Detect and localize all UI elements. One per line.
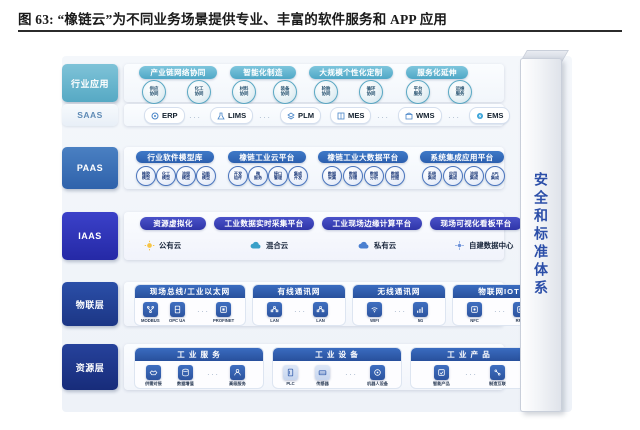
diagram-canvas: 行业应用 产业链网络协同 供应协同 化工协同 智能化制造 材料协同 装备协同 大… (0, 34, 640, 430)
iaas-pill-0[interactable]: 资源虚拟化 (140, 217, 206, 230)
cloud-icon (250, 241, 262, 250)
iaas-pill-2[interactable]: 工业现场边缘计算平台 (322, 217, 422, 230)
chip-label: EMS (487, 111, 503, 120)
paas-node-2-0[interactable]: 数据采集 (322, 166, 342, 186)
cloud-label: 私有云 (374, 240, 396, 251)
flask-icon (217, 112, 225, 120)
pill-label: 橡链工业大数据平台 (327, 152, 398, 163)
pill-label: 橡链工业云平台 (239, 152, 294, 163)
signal-icon (413, 302, 428, 317)
resource-node-label: 机器人设备 (367, 381, 388, 387)
industry-node-1-0[interactable]: 材料协同 (232, 80, 256, 104)
pill-label: 智能化制造 (243, 67, 282, 78)
industry-node-3-0[interactable]: 平台服务 (406, 80, 430, 104)
pill-label: 资源虚拟化 (153, 218, 192, 229)
iaas-cloud-private[interactable]: 私有云 (358, 240, 396, 251)
paas-node-1-1[interactable]: 微服务 (248, 166, 268, 186)
handshake-icon (146, 365, 161, 380)
resource-node-2-1[interactable]: 制造互联 (489, 365, 506, 387)
industry-node-0-1[interactable]: 化工协同 (187, 80, 211, 104)
resource-node-label: 智能产品 (433, 381, 450, 387)
resource-node-label: 数据增值 (177, 381, 194, 387)
chip-label: ERP (162, 111, 178, 120)
industry-pill-1[interactable]: 智能化制造 (230, 66, 296, 79)
iot-node-wifi[interactable]: WIFI (367, 302, 382, 323)
iaas-cloud-hybrid[interactable]: 混合云 (250, 240, 288, 251)
resource-dots-2: ··· (465, 370, 478, 379)
network-icon (143, 302, 158, 317)
paas-node-1-3[interactable]: 集成开发 (288, 166, 308, 186)
pill-label: 大规模个性化定制 (319, 67, 382, 78)
paas-pill-2[interactable]: 橡链工业大数据平台 (318, 151, 408, 163)
resource-node-0-2[interactable]: 高级服务 (229, 365, 246, 387)
layer-tab-resource[interactable]: 资源层 (62, 344, 118, 390)
iaas-pill-1[interactable]: 工业数据实时采集平台 (214, 217, 314, 230)
iot-node-nfc[interactable]: NFC (467, 302, 482, 323)
layer-tab-label: 行业应用 (71, 77, 109, 90)
layer-tab-label: PAAS (77, 163, 103, 173)
figure-title-text: “橡链云”为不同业务场景提供专业、丰富的软件服务和 APP 应用 (57, 12, 447, 27)
saas-dots-1: ··· (259, 113, 272, 122)
box-icon (405, 112, 413, 120)
iot-dots-3: ··· (494, 307, 507, 316)
resource-node-label: 制造互联 (489, 381, 506, 387)
lan-icon (313, 302, 328, 317)
connected-manufacturing-icon (490, 365, 505, 380)
paas-node-2-3[interactable]: 数据挖掘 (385, 166, 405, 186)
resource-node-0-1[interactable]: 数据增值 (177, 365, 194, 387)
layer-tab-label: 资源层 (76, 361, 105, 374)
industry-node-2-0[interactable]: 轮胎协同 (314, 80, 338, 104)
saas-dots-2: ··· (377, 113, 390, 122)
server-icon (170, 302, 185, 317)
data-value-icon (178, 365, 193, 380)
resource-card-title: 工 业 设 备 (273, 348, 401, 361)
saas-chip-plm[interactable]: PLM (280, 107, 321, 124)
gear-icon (151, 112, 159, 120)
resource-node-1-0[interactable]: PLC (283, 365, 298, 386)
resource-node-1-1[interactable]: 传感器 (315, 365, 330, 387)
iot-node-label: MODBUS (141, 318, 160, 323)
chip-label: MES (348, 111, 364, 120)
industry-pill-0[interactable]: 产业链网络协同 (139, 66, 217, 79)
resource-node-1-2[interactable]: 机器人设备 (367, 365, 388, 387)
title-divider (18, 30, 622, 32)
saas-chip-erp[interactable]: ERP (144, 107, 185, 124)
iaas-pill-3[interactable]: 现场可视化看板平台 (430, 217, 522, 230)
pill-label: 现场可视化看板平台 (440, 218, 511, 229)
paas-node-2-1[interactable]: 数据存储 (343, 166, 363, 186)
industry-node-1-1[interactable]: 装备协同 (273, 80, 297, 104)
iaas-cloud-datacenter[interactable]: 自建数据中心 (454, 240, 513, 251)
iot-node-5g[interactable]: 5G (413, 302, 428, 323)
robot-icon (370, 365, 385, 380)
paas-node-3-3[interactable]: API集成 (485, 166, 505, 186)
layers-icon (287, 112, 295, 120)
resource-node-2-0[interactable]: 智能产品 (433, 365, 450, 387)
pill-label: 产业链网络协同 (150, 67, 205, 78)
saas-chip-lims[interactable]: LIMS (210, 107, 253, 124)
industry-node-3-1[interactable]: 运维服务 (448, 80, 472, 104)
resource-node-label: 供需对接 (145, 381, 162, 387)
smart-product-icon (434, 365, 449, 380)
iot-card-title: 有线通讯网 (253, 285, 345, 298)
cloud-lock-icon (358, 241, 370, 250)
chip-label: WMS (416, 111, 435, 120)
iot-card-2: 无线通讯网 WIFI ··· 5G (352, 284, 446, 326)
sun-cloud-icon (144, 240, 155, 251)
layer-tab-label: SAAS (77, 110, 103, 120)
paas-pill-1[interactable]: 橡链工业云平台 (228, 151, 306, 163)
pill-label: 工业现场边缘计算平台 (333, 218, 412, 229)
iot-dots-2: ··· (394, 307, 407, 316)
pill-label: 工业数据实时采集平台 (225, 218, 304, 229)
iot-node-lan-0[interactable]: LAN (267, 302, 282, 323)
grid-icon (337, 112, 345, 120)
saas-dots-3: ··· (448, 113, 461, 122)
layer-tab-iaas[interactable]: IAAS (62, 212, 118, 260)
chip-label: PLM (298, 111, 314, 120)
iot-node-label: NFC (470, 318, 479, 323)
datacenter-icon (454, 240, 465, 251)
iot-node-label: PROFINET (213, 318, 234, 323)
paas-node-3-1[interactable]: 应用集成 (443, 166, 463, 186)
paas-pill-0[interactable]: 行业软件模型库 (136, 151, 214, 163)
resource-card-1: 工 业 设 备 PLC 传感器 ··· 机器人设备 (272, 347, 402, 389)
cloud-label: 混合云 (266, 240, 288, 251)
resource-card-0: 工 业 服 务 供需对接 数据增值 ··· 高级服务 (134, 347, 264, 389)
resource-card-2: 工 业 产 品 智能产品 ··· 制造互联 (410, 347, 528, 389)
layer-tab-saas[interactable]: SAAS (62, 104, 118, 126)
resource-node-label: 传感器 (316, 381, 329, 387)
iot-node-label: 5G (418, 318, 424, 323)
paas-node-0-3[interactable]: 动能模型 (196, 166, 216, 186)
iot-node-label: OPC UA (169, 318, 185, 323)
paas-node-2-2[interactable]: 数据分析 (364, 166, 384, 186)
iot-card-1: 有线通讯网 LAN ··· LAN (252, 284, 346, 326)
iot-node-profinet[interactable]: PROFINET (213, 302, 234, 323)
iot-node-label: LAN (270, 318, 279, 323)
sensor-icon (467, 302, 482, 317)
figure-title-row: 图 63: “橡链云”为不同业务场景提供专业、丰富的软件服务和 APP 应用 (18, 8, 622, 28)
iot-card-title: 现场总线/工业以太网 (135, 285, 245, 298)
iaas-cloud-public[interactable]: 公有云 (144, 240, 181, 251)
paas-node-3-0[interactable]: 系统集成 (422, 166, 442, 186)
iot-card-0: 现场总线/工业以太网 MODBUS OPC UA ··· PROFINET (134, 284, 246, 326)
plc-icon (283, 365, 298, 380)
industry-node-2-1[interactable]: 循环协同 (359, 80, 383, 104)
wifi-icon (367, 302, 382, 317)
pill-label: 服务化延伸 (417, 67, 456, 78)
resource-node-label: 高级服务 (229, 381, 246, 387)
resource-node-label: PLC (286, 381, 294, 386)
chip-label: LIMS (228, 111, 246, 120)
paas-node-0-0[interactable]: 橡胶模型 (136, 166, 156, 186)
saas-dots-0: ··· (189, 113, 202, 122)
industry-pill-3[interactable]: 服务化延伸 (406, 66, 468, 79)
iot-dots-1: ··· (294, 307, 307, 316)
pill-label: 行业软件模型库 (147, 152, 202, 163)
layer-tab-label: 物联层 (76, 298, 105, 311)
chip-icon (216, 302, 231, 317)
industry-node-0-0[interactable]: 供应协同 (142, 80, 166, 104)
figure-number: 图 63: (18, 12, 54, 27)
cloud-label: 公有云 (159, 240, 181, 251)
pill-label: 系统集成应用平台 (430, 152, 493, 163)
cloud-label: 自建数据中心 (469, 240, 513, 251)
service-icon (230, 365, 245, 380)
paas-node-3-2[interactable]: 流程集成 (464, 166, 484, 186)
layer-tab-paas[interactable]: PAAS (62, 147, 118, 189)
energy-icon (476, 112, 484, 120)
sensor-device-icon (315, 365, 330, 380)
saas-chip-ems[interactable]: EMS (469, 107, 510, 124)
iot-dots-0: ··· (197, 307, 210, 316)
saas-chip-wms[interactable]: WMS (398, 107, 442, 124)
paas-pill-3[interactable]: 系统集成应用平台 (420, 151, 504, 163)
resource-dots-0: ··· (207, 370, 220, 379)
iot-node-modbus[interactable]: MODBUS (141, 302, 160, 323)
iot-node-opcua[interactable]: OPC UA (169, 302, 185, 323)
paas-node-1-2[interactable]: 接口管理 (268, 166, 288, 186)
lan-icon (267, 302, 282, 317)
paas-node-0-1[interactable]: 化工模型 (156, 166, 176, 186)
saas-chip-mes[interactable]: MES (330, 107, 371, 124)
resource-node-0-0[interactable]: 供需对接 (145, 365, 162, 387)
layer-tab-industry[interactable]: 行业应用 (62, 64, 118, 102)
paas-node-1-0[interactable]: 开发组件 (228, 166, 248, 186)
iot-card-title: 无线通讯网 (353, 285, 445, 298)
security-standards-pillar: 安全和标准体系 (520, 58, 562, 412)
layer-tab-iot[interactable]: 物联层 (62, 282, 118, 326)
resource-card-title: 工 业 服 务 (135, 348, 263, 361)
iot-node-label: WIFI (370, 318, 379, 323)
iot-node-lan-1[interactable]: LAN (313, 302, 328, 323)
resource-dots-1: ··· (345, 370, 358, 379)
industry-pill-2[interactable]: 大规模个性化定制 (309, 66, 393, 79)
layer-tab-label: IAAS (78, 231, 102, 241)
paas-node-0-2[interactable]: 流程模型 (176, 166, 196, 186)
iot-node-label: LAN (316, 318, 325, 323)
resource-card-title: 工 业 产 品 (411, 348, 527, 361)
pillar-label: 安全和标准体系 (521, 59, 561, 411)
